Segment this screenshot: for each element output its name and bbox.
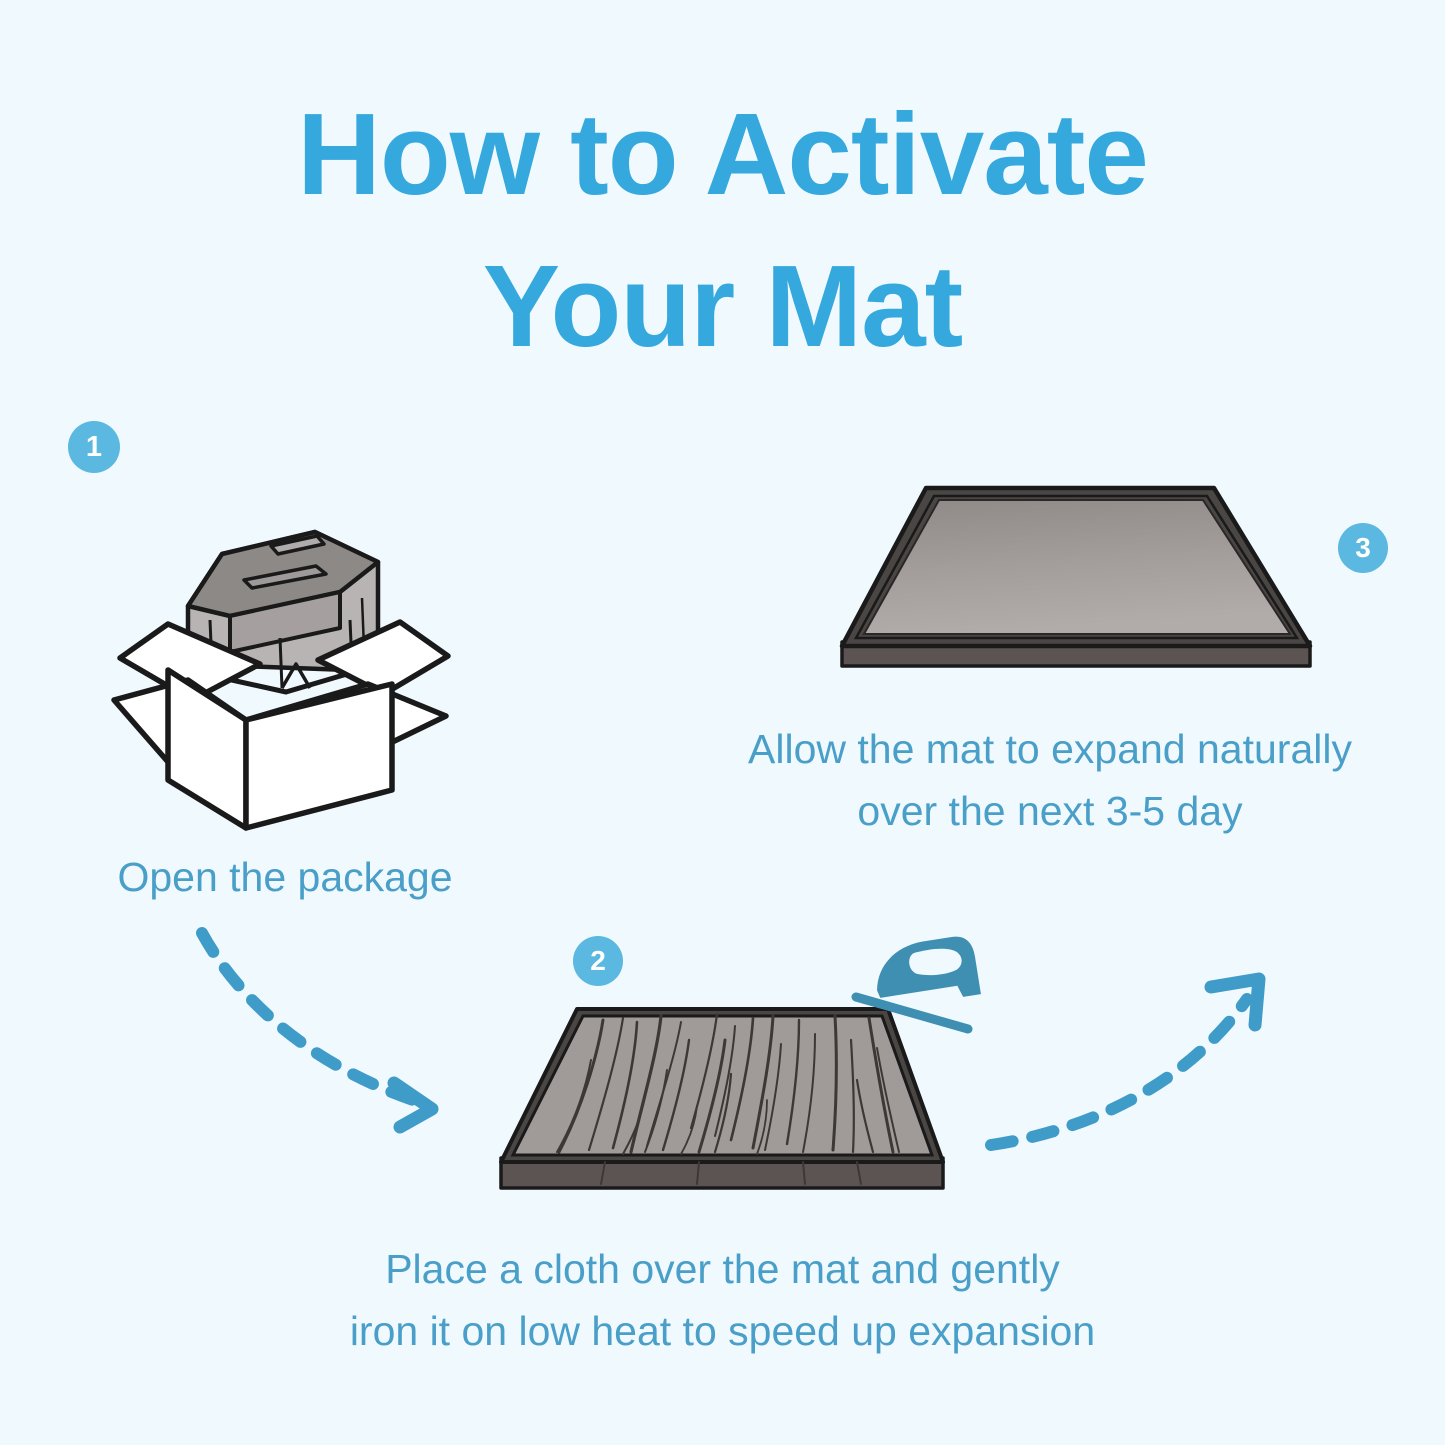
step-3-caption-line-1: Allow the mat to expand naturally: [670, 718, 1430, 780]
flat-mat-icon: [820, 470, 1330, 680]
step-3-badge: 3: [1338, 523, 1388, 573]
step-1-caption: Open the package: [30, 846, 540, 908]
step-2-caption-line-1: Place a cloth over the mat and gently: [240, 1238, 1205, 1300]
step-1-badge: 1: [68, 421, 120, 473]
page-title: How to Activate Your Mat: [0, 78, 1445, 382]
dashed-arrow-up-right-icon: [975, 955, 1295, 1170]
infographic-canvas: How to Activate Your Mat 1: [0, 0, 1445, 1445]
dashed-arrow-down-right-icon: [160, 915, 490, 1145]
step-3-caption-line-2: over the next 3-5 day: [670, 780, 1430, 842]
title-line-2: Your Mat: [0, 230, 1445, 382]
step-2-badge: 2: [573, 936, 623, 986]
step-2-caption: Place a cloth over the mat and gently ir…: [240, 1238, 1205, 1363]
step-3-caption: Allow the mat to expand naturally over t…: [670, 718, 1430, 843]
step-2-caption-line-2: iron it on low heat to speed up expansio…: [240, 1300, 1205, 1362]
title-line-1: How to Activate: [0, 78, 1445, 230]
step-1-caption-line-1: Open the package: [30, 846, 540, 908]
cardboard-box-icon: [110, 488, 460, 828]
